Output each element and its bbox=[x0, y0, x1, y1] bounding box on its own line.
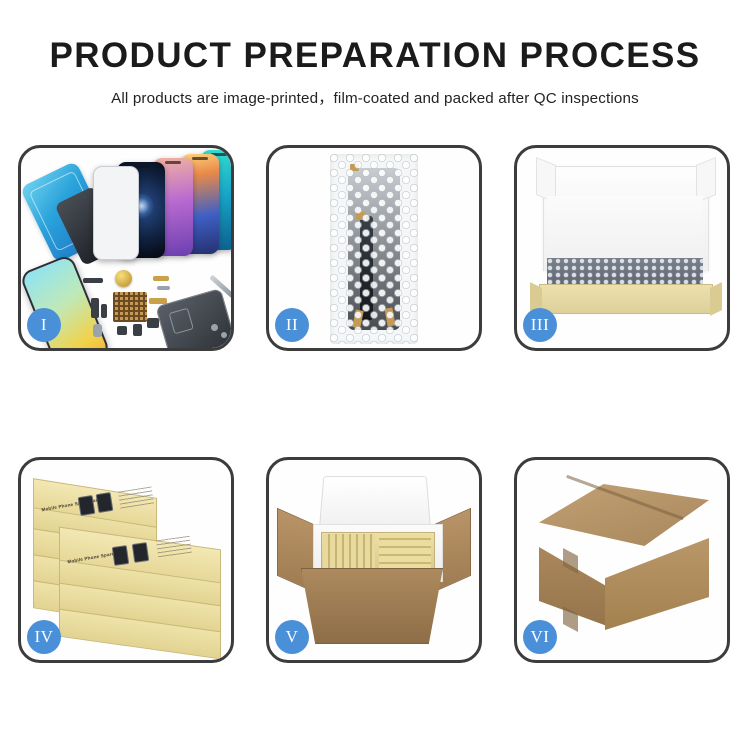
part-camera-icon bbox=[91, 298, 99, 318]
box-label-phone-icon bbox=[78, 495, 96, 516]
part-sensor-icon bbox=[101, 304, 107, 318]
inner-boxes-group-right-icon bbox=[379, 534, 431, 570]
part-speaker-icon bbox=[117, 326, 127, 335]
bubble-wrap-bag-icon bbox=[330, 154, 418, 344]
part-connector-icon bbox=[83, 278, 103, 283]
process-panel-grid: I II III bbox=[18, 145, 734, 663]
part-silver-clip-icon bbox=[157, 286, 170, 290]
part-gold-flex-icon bbox=[153, 276, 169, 281]
process-panel-3: III bbox=[514, 145, 730, 351]
inner-boxes-group-left-icon bbox=[323, 534, 375, 570]
panel-badge-4: IV bbox=[27, 620, 61, 654]
bubble-wrapped-contents-icon bbox=[547, 258, 703, 286]
page-title: PRODUCT PREPARATION PROCESS bbox=[0, 38, 750, 75]
phone-notch-icon bbox=[192, 157, 208, 160]
carton-top-face-icon bbox=[539, 484, 709, 546]
chip-grid-icon bbox=[113, 292, 147, 322]
panel-badge-6: VI bbox=[523, 620, 557, 654]
box-stack-icon: Mobile Phone Spare Parts Mobile Phone Sp… bbox=[31, 476, 227, 652]
phone-notch-icon bbox=[165, 161, 181, 164]
white-foam-sheet-icon bbox=[547, 196, 703, 260]
box-label-phone-icon bbox=[132, 542, 149, 563]
gold-coin-part-icon bbox=[115, 270, 132, 287]
part-button-icon bbox=[133, 324, 142, 336]
phone-backplate-icon bbox=[155, 288, 231, 348]
bubble-texture-icon bbox=[330, 154, 418, 344]
part-screw-icon bbox=[211, 324, 218, 331]
part-tray-icon bbox=[93, 324, 102, 337]
process-panel-1: I bbox=[18, 145, 234, 351]
box-label-phone-icon bbox=[96, 492, 114, 513]
process-panel-4: Mobile Phone Spare Parts Mobile Phone Sp… bbox=[18, 457, 234, 663]
panel-badge-3: III bbox=[523, 308, 557, 342]
part-screw-icon bbox=[221, 332, 227, 338]
carton-body-icon bbox=[301, 568, 443, 644]
screen-protector-glass-icon bbox=[93, 166, 139, 260]
process-panel-5: V bbox=[266, 457, 482, 663]
part-module-icon bbox=[147, 318, 159, 328]
panel-badge-5: V bbox=[275, 620, 309, 654]
process-panel-6: VI bbox=[514, 457, 730, 663]
process-panel-2: II bbox=[266, 145, 482, 351]
box-label-phone-icon bbox=[112, 545, 129, 566]
header: PRODUCT PREPARATION PROCESS All products… bbox=[0, 0, 750, 108]
panel-badge-1: I bbox=[27, 308, 61, 342]
panel-badge-2: II bbox=[275, 308, 309, 342]
kraft-box-base-icon bbox=[539, 284, 713, 314]
page-subtitle: All products are image-printed，film-coat… bbox=[0, 86, 750, 108]
